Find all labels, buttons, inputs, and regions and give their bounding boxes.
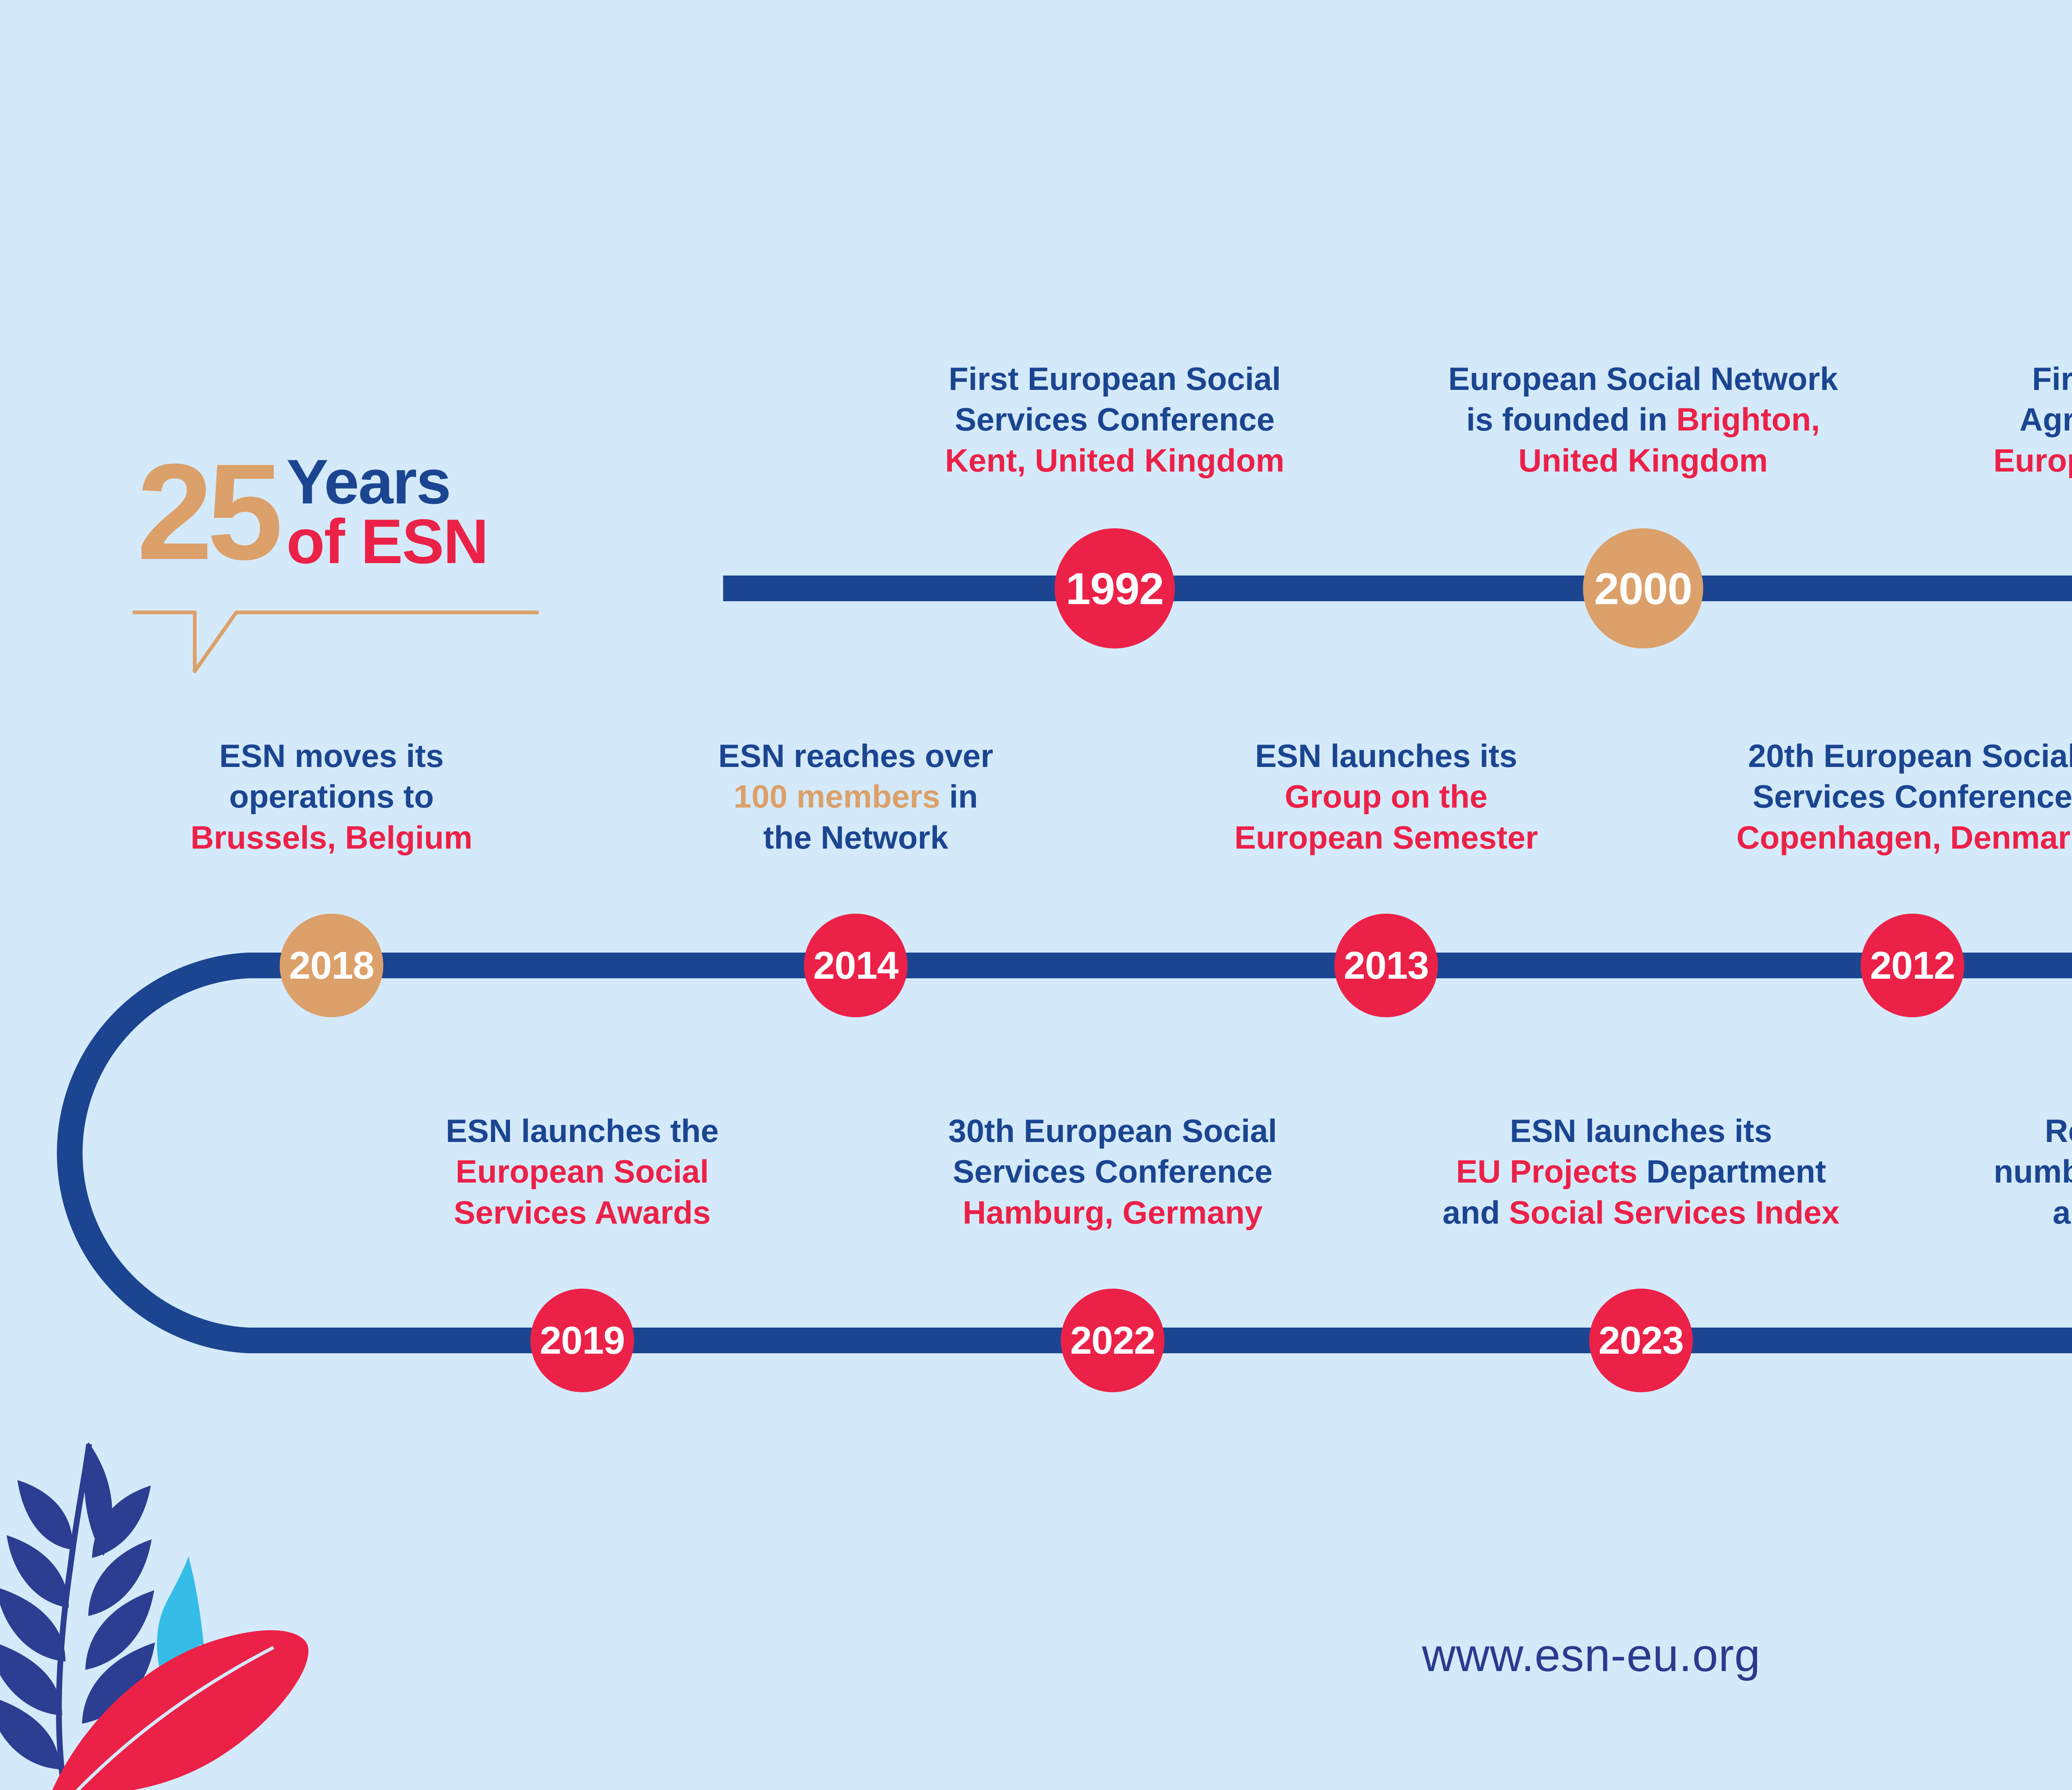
text-segment: First Multi-Annual: [2032, 360, 2072, 397]
site-url[interactable]: www.esn-eu.org: [1422, 1628, 1760, 1682]
year-label: 2022: [1070, 1318, 1155, 1363]
text-segment: and: [1443, 1194, 1509, 1231]
year-label: 2013: [1343, 943, 1428, 988]
logo-years-text: Years: [286, 452, 488, 512]
text-segment: ESN reaches over: [718, 738, 993, 774]
text-segment: First European Social: [949, 360, 1281, 397]
text-segment: European Semester: [1234, 819, 1538, 856]
year-node-2022[interactable]: 2022: [1061, 1289, 1164, 1392]
text-segment: Department: [1637, 1153, 1826, 1190]
logo-of-esn-text: of ESN: [286, 512, 488, 571]
text-segment: European Social: [455, 1153, 709, 1190]
text-segment: Services Conference: [953, 1153, 1273, 1190]
event-line: EU Projects Department: [1443, 1151, 1840, 1192]
timeline-track: [0, 0, 2072, 1790]
text-segment: Social Services Index: [1509, 1194, 1840, 1231]
text-segment: and: [2053, 1194, 2072, 1231]
text-segment: ESN launches its: [1510, 1113, 1772, 1149]
text-segment: ESN launches its: [1255, 738, 1518, 774]
event-line: and ESSA (180): [1994, 1192, 2072, 1233]
event-line: numbers at ESSC (695): [1994, 1151, 2072, 1192]
year-node-1992[interactable]: 1992: [1055, 528, 1175, 648]
event-line: 20th European Social: [1736, 735, 2072, 776]
year-node-2023[interactable]: 2023: [1589, 1289, 1693, 1392]
event-line: Record attendee: [1994, 1110, 2072, 1151]
event-line: European Social Network: [1448, 358, 1838, 399]
text-segment: Copenhagen, Denmark: [1736, 819, 2072, 856]
infographic-canvas: 25 Years of ESN 199220002005200720182014…: [0, 0, 2072, 1790]
event-line: Brussels, Belgium: [191, 817, 473, 858]
event-line: ESN reaches over: [718, 735, 993, 776]
event-line: 100 members in: [718, 776, 993, 817]
text-segment: 100 members: [733, 778, 940, 815]
text-segment: Services Conference: [1752, 778, 2072, 815]
text-segment: numbers at: [1994, 1153, 2072, 1190]
year-label: 2023: [1598, 1318, 1683, 1363]
event-description-1992: First European SocialServices Conference…: [945, 358, 1285, 481]
event-description-2012: 20th European SocialServices ConferenceC…: [1736, 735, 2072, 858]
year-label: 2018: [289, 943, 374, 988]
event-line: First European Social: [945, 358, 1285, 399]
text-segment: Hamburg, Germany: [963, 1194, 1263, 1231]
event-line: and Social Services Index: [1443, 1192, 1840, 1233]
text-segment: EU Projects: [1456, 1153, 1638, 1190]
year-node-2013[interactable]: 2013: [1334, 914, 1438, 1017]
event-description-2024: Record attendeenumbers at ESSC (695)and …: [1994, 1110, 2072, 1233]
text-segment: in: [940, 778, 978, 815]
event-line: is founded in Brighton,: [1448, 399, 1838, 440]
event-description-2013: ESN launches itsGroup on theEuropean Sem…: [1234, 735, 1538, 858]
event-line: Copenhagen, Denmark: [1736, 817, 2072, 858]
event-line: Services Conference: [948, 1151, 1277, 1192]
text-segment: Agreement with the: [2019, 401, 2072, 438]
text-segment: ESN moves its: [219, 738, 444, 774]
event-line: ESN launches its: [1234, 735, 1538, 776]
text-segment: ESN launches the: [446, 1113, 719, 1149]
year-node-2019[interactable]: 2019: [530, 1289, 634, 1392]
event-description-2019: ESN launches theEuropean SocialServices …: [446, 1110, 719, 1233]
event-line: Services Conference: [945, 399, 1285, 440]
year-node-2018[interactable]: 2018: [280, 914, 383, 1017]
event-description-2022: 30th European SocialServices ConferenceH…: [948, 1110, 1277, 1233]
logo-block: 25 Years of ESN: [124, 423, 613, 680]
event-line: Group on the: [1234, 776, 1538, 817]
event-line: First Multi-Annual: [1993, 358, 2072, 399]
event-description-2014: ESN reaches over100 members inthe Networ…: [718, 735, 993, 858]
year-node-2012[interactable]: 2012: [1861, 914, 1964, 1017]
event-line: Agreement with the: [1993, 399, 2072, 440]
logo-number: 25: [137, 456, 277, 568]
event-line: Kent, United Kingdom: [945, 440, 1285, 481]
year-label: 2012: [1870, 943, 1955, 988]
text-segment: the Network: [763, 819, 948, 856]
text-segment: Brussels, Belgium: [191, 819, 473, 856]
event-line: operations to: [191, 776, 473, 817]
event-line: ESN moves its: [191, 735, 473, 776]
text-segment: Kent, United Kingdom: [945, 442, 1285, 479]
year-label: 1992: [1066, 563, 1164, 614]
year-node-2000[interactable]: 2000: [1583, 528, 1703, 648]
text-segment: Brighton,: [1676, 401, 1820, 438]
year-label: 2000: [1594, 563, 1692, 614]
text-segment: European Commission: [1993, 442, 2072, 479]
event-description-2023: ESN launches itsEU Projects Departmentan…: [1443, 1110, 1840, 1233]
event-line: Hamburg, Germany: [948, 1192, 1277, 1233]
event-line: 30th European Social: [948, 1110, 1277, 1151]
text-segment: operations to: [229, 778, 434, 815]
event-line: Services Conference: [1736, 776, 2072, 817]
year-label: 2019: [540, 1318, 625, 1363]
text-segment: Services Conference: [955, 401, 1275, 438]
event-description-2000: European Social Networkis founded in Bri…: [1448, 358, 1838, 481]
year-node-2014[interactable]: 2014: [804, 914, 908, 1017]
text-segment: Group on the: [1285, 778, 1488, 815]
text-segment: Services Awards: [454, 1194, 711, 1231]
text-segment: United Kingdom: [1518, 442, 1768, 479]
event-description-2005: First Multi-AnnualAgreement with theEuro…: [1993, 358, 2072, 481]
event-description-2018: ESN moves itsoperations toBrussels, Belg…: [191, 735, 473, 858]
text-segment: Record attendee: [2045, 1113, 2072, 1149]
logo-speech-tail-icon: [128, 605, 543, 684]
text-segment: is founded in: [1466, 401, 1676, 438]
text-segment: 30th European Social: [948, 1113, 1277, 1149]
event-line: United Kingdom: [1448, 440, 1838, 481]
event-line: the Network: [718, 817, 993, 858]
text-segment: 20th European Social: [1748, 738, 2072, 774]
text-segment: European Social Network: [1448, 360, 1838, 397]
event-line: European Semester: [1234, 817, 1538, 858]
event-line: ESN launches its: [1443, 1110, 1840, 1151]
event-line: Services Awards: [446, 1192, 719, 1233]
year-label: 2014: [813, 943, 898, 988]
event-line: European Social: [446, 1151, 719, 1192]
event-line: European Commission: [1993, 440, 2072, 481]
event-line: ESN launches the: [446, 1110, 719, 1151]
